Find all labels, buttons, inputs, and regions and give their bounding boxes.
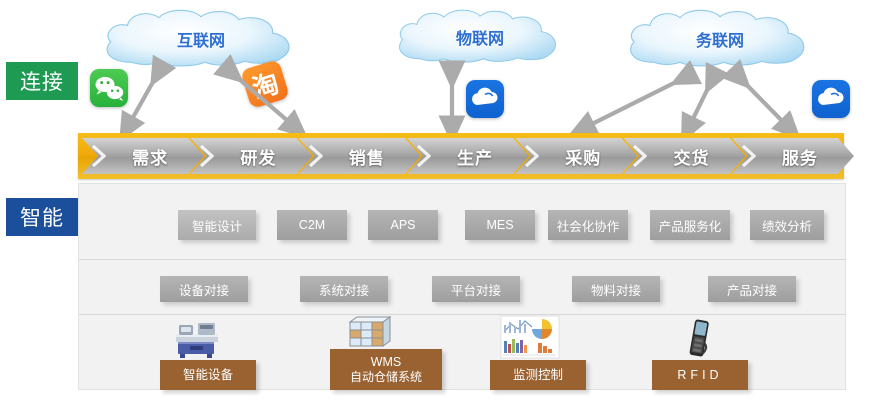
smart-capability-box-label: 产品服务化 — [659, 216, 722, 235]
cloud-label: 务联网 — [620, 27, 820, 51]
platform-capability-box-label: 设备对接 — [179, 280, 229, 299]
connection-arrows — [0, 0, 881, 400]
smart-capability-box-1[interactable]: 智能设计 — [178, 210, 256, 240]
process-stage-3[interactable]: 销售 — [299, 138, 421, 174]
dashboard-charts-icon — [500, 315, 560, 359]
cloud-label: 互联网 — [96, 27, 306, 51]
smart-capability-box-2[interactable]: C2M — [277, 210, 347, 240]
process-stage-4[interactable]: 生产 — [407, 138, 529, 174]
process-stage-label: 服务 — [768, 144, 818, 169]
cloud-label: 物联网 — [390, 25, 570, 49]
process-chevron-bar: 需求研发销售生产采购交货服务 — [78, 133, 844, 179]
process-stage-7[interactable]: 服务 — [732, 138, 854, 174]
smart-capability-box-7[interactable]: 绩效分析 — [750, 210, 824, 240]
smart-capability-box-5[interactable]: 社会化协作 — [548, 210, 628, 240]
process-stage-label: 采购 — [551, 144, 601, 169]
smart-capability-box-6[interactable]: 产品服务化 — [650, 210, 730, 240]
smart-capability-box-label: C2M — [299, 218, 325, 232]
platform-capability-box-label: 系统对接 — [319, 280, 369, 299]
process-stage-label: 需求 — [118, 144, 168, 169]
process-stage-label: 销售 — [335, 144, 385, 169]
platform-capability-box-2[interactable]: 系统对接 — [300, 276, 388, 302]
platform-capability-box-4[interactable]: 物料对接 — [572, 276, 660, 302]
smart-capability-box-label: 绩效分析 — [762, 216, 812, 235]
process-stage-5[interactable]: 采购 — [515, 138, 637, 174]
process-stage-label: 生产 — [443, 144, 493, 169]
chevron-right-icon — [92, 145, 106, 167]
platform-capability-box-1[interactable]: 设备对接 — [160, 276, 248, 302]
platform-capability-box-5[interactable]: 产品对接 — [708, 276, 796, 302]
smart-capability-box-4[interactable]: MES — [465, 210, 535, 240]
platform-capability-box-3[interactable]: 平台对接 — [432, 276, 520, 302]
platform-capability-box-label: 物料对接 — [591, 280, 641, 299]
platform-capability-box-label: 平台对接 — [451, 280, 501, 299]
warehouse-rack-icon — [346, 314, 394, 352]
platform-capability-box-label: 产品对接 — [727, 280, 777, 299]
cnc-machine-icon — [172, 317, 222, 359]
process-stage-2[interactable]: 研发 — [190, 138, 312, 174]
smart-capability-box-label: 社会化协作 — [557, 216, 620, 235]
smart-capability-box-label: APS — [390, 218, 415, 232]
process-stage-6[interactable]: 交货 — [623, 138, 745, 174]
smart-capability-box-3[interactable]: APS — [368, 210, 438, 240]
process-stage-label: 交货 — [660, 144, 710, 169]
process-stages: 需求研发销售生产采购交货服务 — [82, 138, 840, 174]
process-stage-1[interactable]: 需求 — [82, 138, 204, 174]
smart-capability-box-label: MES — [486, 218, 513, 232]
process-stage-label: 研发 — [226, 144, 276, 169]
smart-capability-box-label: 智能设计 — [192, 216, 242, 235]
rfid-scanner-icon — [686, 318, 712, 360]
